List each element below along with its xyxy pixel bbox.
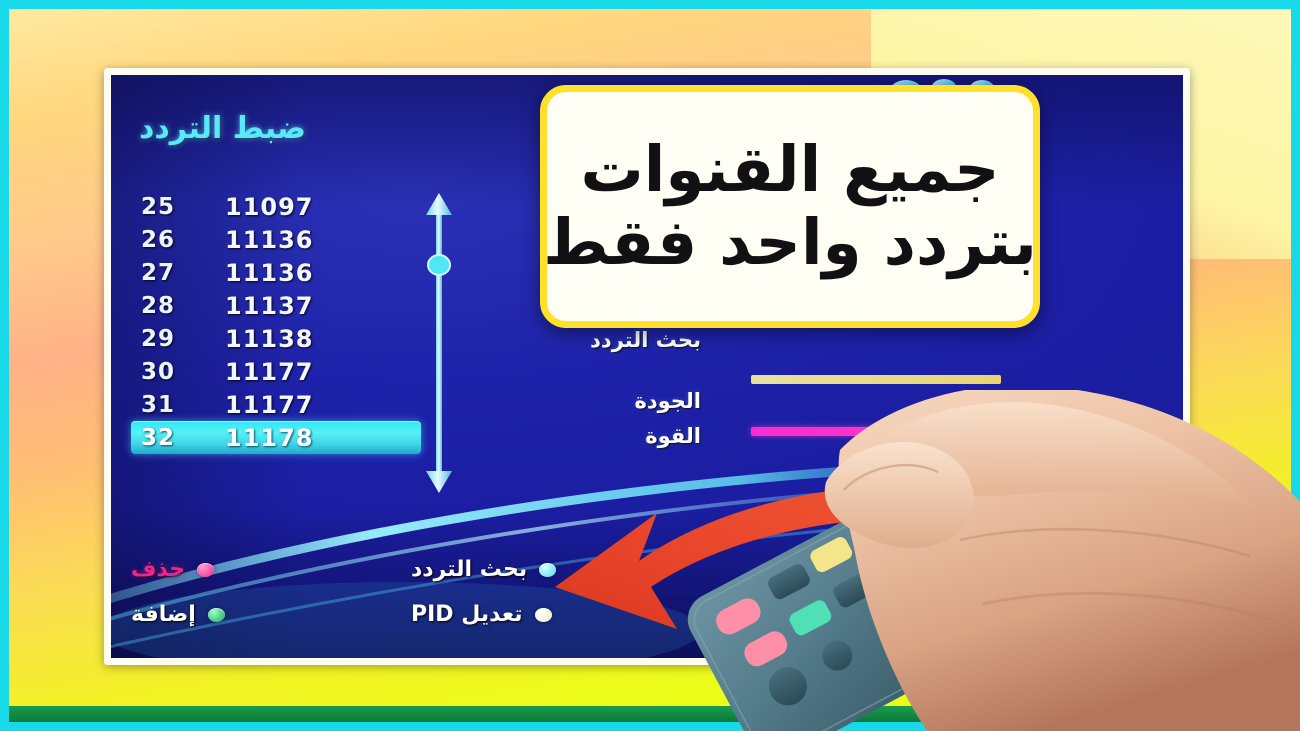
bottom-green-strip [9,706,1291,722]
channel-frequency: 11097 [199,193,413,221]
channel-frequency: 11137 [199,292,413,320]
channel-index: 27 [141,260,199,286]
option-add[interactable]: إضافة [131,602,225,627]
screen-title-tune: ضبط التردد [139,111,306,146]
option-frequency-search[interactable]: بحث التردد [411,557,556,582]
option-search-label: بحث التردد [411,557,527,582]
channel-frequency: 11177 [199,391,413,419]
thumbnail-stage: ضبط التردد نايل سات 25110972611136271113… [0,0,1300,731]
table-row[interactable]: 3211178 [131,421,421,454]
channel-index: 26 [141,227,199,253]
option-edit-pid[interactable]: تعديل PID [411,602,552,627]
table-row[interactable]: 2611136 [131,223,421,256]
add-dot-icon [208,608,225,622]
option-delete[interactable]: حذف [131,557,214,582]
vertical-scroll-arrow-icon[interactable] [421,193,457,493]
headline-banner: جميع القنوات بتردد واحد فقط [540,85,1040,328]
red-annotation-arrow-icon [511,475,931,655]
delete-dot-icon [197,563,214,577]
table-row[interactable]: 3011177 [131,355,421,388]
channel-index: 28 [141,293,199,319]
channel-frequency: 11136 [199,259,413,287]
channel-frequency: 11178 [199,424,413,452]
pid-dot-icon [535,608,552,622]
table-row[interactable]: 2911138 [131,322,421,355]
menu-item-6[interactable]: القوة [471,426,701,447]
banner-line-2: بتردد واحد فقط [543,209,1037,277]
channel-index: 25 [141,194,199,220]
menu-item-4[interactable]: بحث التردد [471,330,701,351]
option-pid-label: تعديل PID [411,602,523,627]
table-row[interactable]: 3111177 [131,388,421,421]
banner-line-1: جميع القنوات [580,136,999,204]
table-row[interactable]: 2711136 [131,256,421,289]
channel-frequency: 11177 [199,358,413,386]
channel-index: 29 [141,326,199,352]
option-add-label: إضافة [131,602,196,627]
signal-quality-bar [751,427,1036,436]
channel-frequency: 11136 [199,226,413,254]
menu-item-5[interactable]: الجودة [471,391,701,412]
channel-index: 31 [141,392,199,418]
channel-frequency-table[interactable]: 2511097261113627111362811137291113830111… [131,190,421,454]
search-dot-icon [539,563,556,577]
table-row[interactable]: 2811137 [131,289,421,322]
channel-index: 30 [141,359,199,385]
table-row[interactable]: 2511097 [131,190,421,223]
channel-frequency: 11138 [199,325,413,353]
option-delete-label: حذف [131,557,185,582]
channel-index: 32 [141,425,199,451]
signal-strength-bar [751,375,1001,384]
